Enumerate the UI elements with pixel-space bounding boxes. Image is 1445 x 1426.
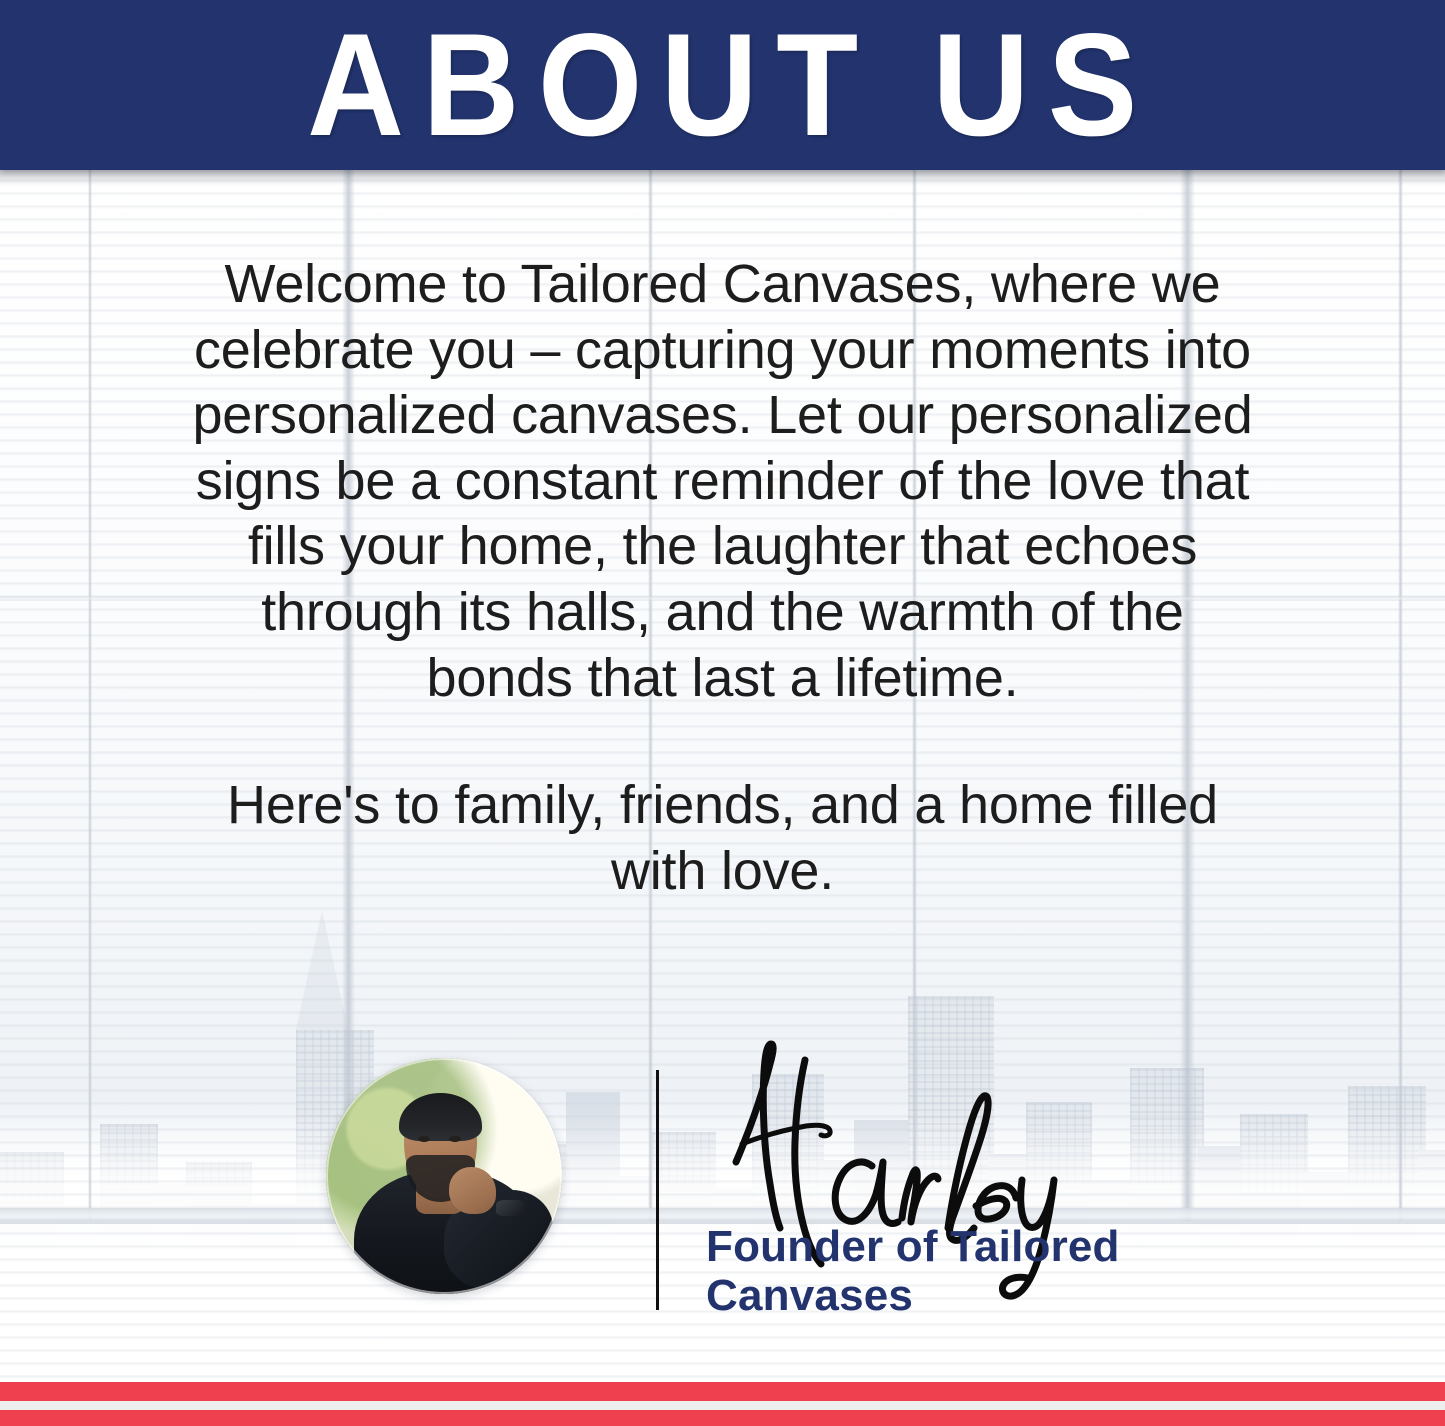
founder-role-line-1: Founder of Tailored	[706, 1222, 1176, 1271]
about-paragraph-1: Welcome to Tailored Canvases, where we c…	[188, 252, 1258, 711]
footer-stripe-bottom	[0, 1410, 1445, 1426]
about-paragraph-2: Here's to family, friends, and a home fi…	[188, 773, 1258, 904]
founder-role: Founder of Tailored Canvases	[706, 1222, 1176, 1321]
header-drop-shadow	[0, 170, 1445, 186]
avatar	[326, 1058, 562, 1294]
content-area: Welcome to Tailored Canvases, where we c…	[0, 170, 1445, 904]
founder-role-line-2: Canvases	[706, 1271, 1176, 1320]
page-header: ABOUT US	[0, 0, 1445, 170]
footer-stripe-gap	[0, 1401, 1445, 1410]
about-copy: Welcome to Tailored Canvases, where we c…	[188, 170, 1258, 904]
signature-divider	[656, 1070, 659, 1310]
about-us-page: ABOUT US Welcome to Tailored Canvases, w…	[0, 0, 1445, 1426]
page-title: ABOUT US	[289, 12, 1156, 158]
footer-stripe-top	[0, 1382, 1445, 1401]
